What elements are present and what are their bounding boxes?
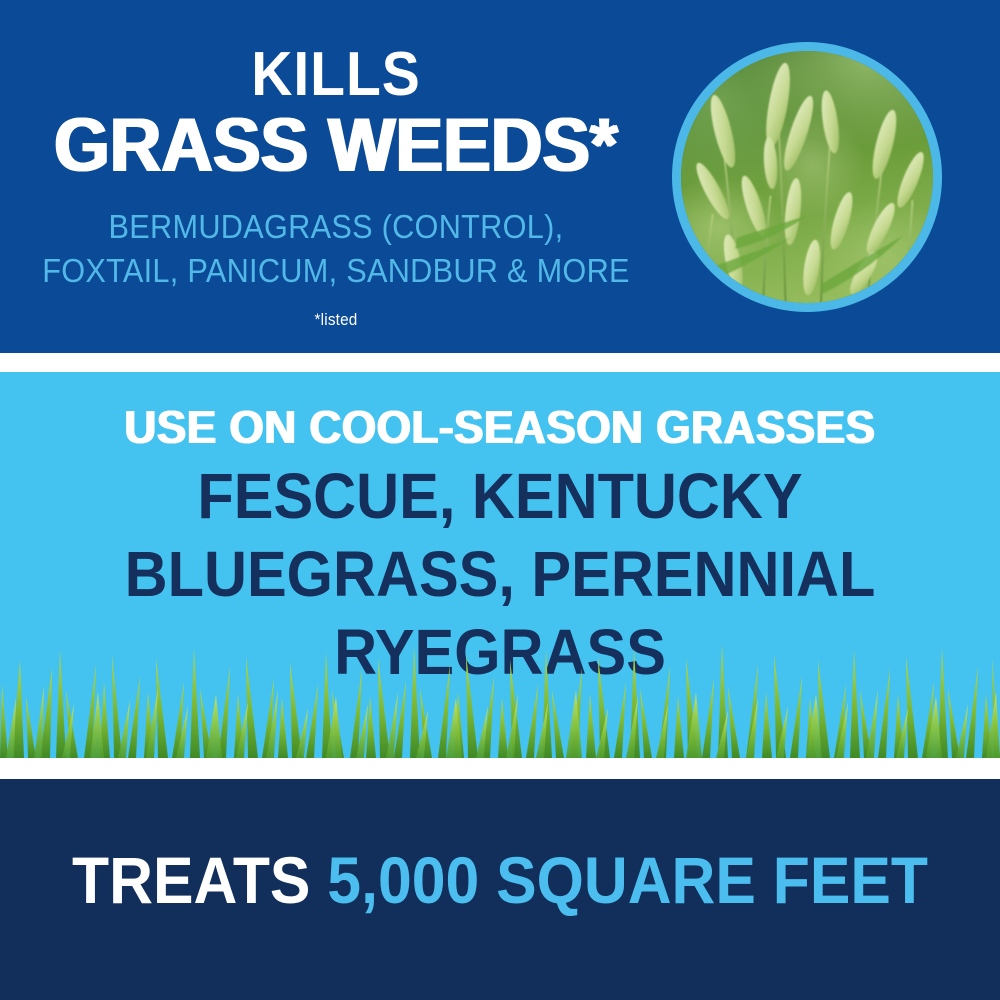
- weed-species-list: BERMUDAGRASS (CONTROL), FOXTAIL, PANICUM…: [42, 205, 630, 292]
- listed-footnote: *listed: [34, 310, 639, 330]
- grass-strip-graphic: [0, 638, 1000, 758]
- treats-area-statement: TREATS 5,000 SQUARE FEET: [40, 847, 960, 913]
- use-on-headline: USE ON COOL-SEASON GRASSES: [20, 404, 980, 450]
- top-panel-text-block: KILLS GRASS WEEDS* BERMUDAGRASS (CONTROL…: [0, 0, 672, 353]
- cool-season-grasses-panel: USE ON COOL-SEASON GRASSES FESCUE, KENTU…: [0, 372, 1000, 758]
- treats-value: 5,000 SQUARE FEET: [327, 843, 928, 917]
- product-feature-infographic: KILLS GRASS WEEDS* BERMUDAGRASS (CONTROL…: [0, 0, 1000, 1000]
- kills-grass-weeds-panel: KILLS GRASS WEEDS* BERMUDAGRASS (CONTROL…: [0, 0, 1000, 353]
- kills-headline-line2: GRASS WEEDS*: [20, 108, 652, 184]
- photo-clip: [681, 51, 933, 303]
- grass-blades-svg: [0, 638, 1000, 758]
- foxtail-grass-weed-photo: [672, 42, 942, 312]
- foxtail-seedhead-illustration: [681, 51, 933, 303]
- treats-label: TREATS: [72, 843, 327, 917]
- kills-headline-line1: KILLS: [27, 44, 645, 106]
- coverage-area-panel: TREATS 5,000 SQUARE FEET: [0, 779, 1000, 1000]
